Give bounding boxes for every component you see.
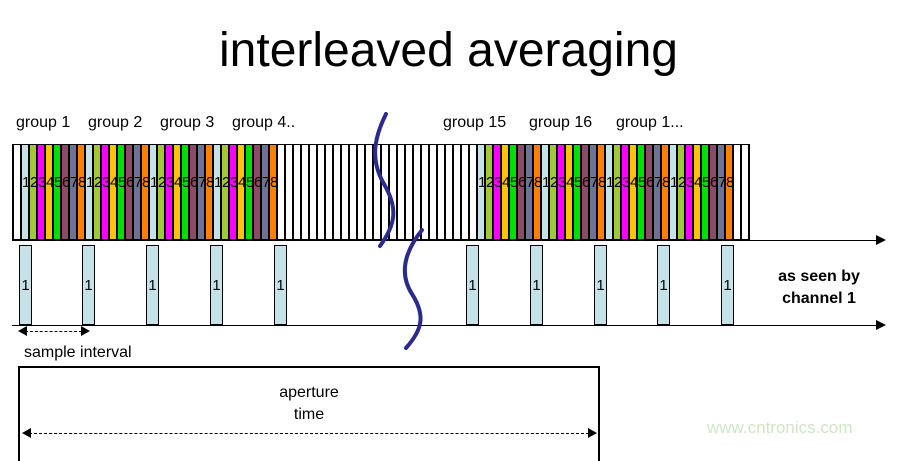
channel-index-label: 5 xyxy=(510,175,516,190)
channel-index-label: 8 xyxy=(598,175,604,190)
channel-bar-8: 8 xyxy=(533,145,541,239)
blank-slot-bar xyxy=(301,145,309,239)
pulse-label: 1 xyxy=(531,278,542,293)
channel-1-pulse: 1 xyxy=(466,245,479,325)
channel-index-label: 1 xyxy=(542,175,548,190)
time-axis-stream-arrowhead xyxy=(876,235,886,245)
channel-index-label: 2 xyxy=(614,175,620,190)
channel-index-label: 2 xyxy=(550,175,556,190)
channel-bar-8: 8 xyxy=(661,145,669,239)
channel-bar-1: 1 xyxy=(149,145,157,239)
channel-index-label: 7 xyxy=(134,175,140,190)
channel-index-label: 3 xyxy=(230,175,236,190)
channel-index-label: 2 xyxy=(94,175,100,190)
channel-bar-5: 5 xyxy=(509,145,517,239)
blank-slot-bar xyxy=(437,145,445,239)
channel-index-label: 7 xyxy=(526,175,532,190)
channel-bar-5: 5 xyxy=(117,145,125,239)
channel-bar-6: 6 xyxy=(709,145,717,239)
channel-1-pulse: 1 xyxy=(146,245,159,325)
channel-bar-2: 2 xyxy=(29,145,37,239)
channel-bar-2: 2 xyxy=(485,145,493,239)
blank-slot-bar xyxy=(453,145,461,239)
channel-1-pulse: 1 xyxy=(594,245,607,325)
channel-index-label: 1 xyxy=(214,175,220,190)
group-label-4: group 4.. xyxy=(232,114,295,132)
channel-1-pulse: 1 xyxy=(82,245,95,325)
channel-1-pulse: 1 xyxy=(274,245,287,325)
channel-index-label: 2 xyxy=(678,175,684,190)
channel-bar-5: 5 xyxy=(573,145,581,239)
channel-index-label: 3 xyxy=(494,175,500,190)
blank-slot-bar xyxy=(13,145,21,239)
group-label-15: group 15 xyxy=(443,114,506,132)
channel-bar-7: 7 xyxy=(589,145,597,239)
channel-index-label: 6 xyxy=(62,175,68,190)
channel-1-pulse: 1 xyxy=(530,245,543,325)
channel-index-label: 5 xyxy=(574,175,580,190)
channel-1-pulse: 1 xyxy=(19,245,32,325)
channel-index-label: 8 xyxy=(270,175,276,190)
channel-index-label: 4 xyxy=(630,175,636,190)
channel-bar-8: 8 xyxy=(77,145,85,239)
channel-index-label: 7 xyxy=(198,175,204,190)
channel-index-label: 7 xyxy=(718,175,724,190)
channel-bar-4: 4 xyxy=(173,145,181,239)
channel-bar-2: 2 xyxy=(613,145,621,239)
channel-bar-4: 4 xyxy=(237,145,245,239)
pulse-label: 1 xyxy=(20,278,31,293)
aperture-time-line2: time xyxy=(18,404,600,426)
channel-bar-2: 2 xyxy=(93,145,101,239)
channel-1-pulse: 1 xyxy=(657,245,670,325)
channel-bar-8: 8 xyxy=(141,145,149,239)
channel-index-label: 3 xyxy=(38,175,44,190)
channel-bar-4: 4 xyxy=(501,145,509,239)
channel-bar-4: 4 xyxy=(565,145,573,239)
channel-index-label: 6 xyxy=(582,175,588,190)
channel-index-label: 7 xyxy=(590,175,596,190)
channel-bar-2: 2 xyxy=(549,145,557,239)
channel-index-label: 4 xyxy=(110,175,116,190)
channel-index-label: 6 xyxy=(646,175,652,190)
channel-bar-8: 8 xyxy=(205,145,213,239)
blank-slot-bar xyxy=(285,145,293,239)
channel-bar-7: 7 xyxy=(197,145,205,239)
channel-index-label: 5 xyxy=(246,175,252,190)
channel-bar-3: 3 xyxy=(493,145,501,239)
blank-slot-bar xyxy=(469,145,477,239)
channel-index-label: 2 xyxy=(158,175,164,190)
channel-index-label: 7 xyxy=(262,175,268,190)
channel-bar-5: 5 xyxy=(53,145,61,239)
channel-bar-1: 1 xyxy=(477,145,485,239)
diagram-canvas: interleaved averaging group 1 group 2 gr… xyxy=(0,0,897,449)
channel-bar-3: 3 xyxy=(101,145,109,239)
blank-slot-bar xyxy=(733,145,741,239)
pulse-label: 1 xyxy=(467,278,478,293)
blank-slot-bar xyxy=(325,145,333,239)
channel-index-label: 5 xyxy=(182,175,188,190)
channel-bar-1: 1 xyxy=(541,145,549,239)
channel-1-pulse: 1 xyxy=(721,245,734,325)
channel-index-label: 6 xyxy=(710,175,716,190)
channel-bar-5: 5 xyxy=(637,145,645,239)
channel-index-label: 8 xyxy=(206,175,212,190)
sample-interval-dimension-line xyxy=(25,331,82,332)
channel-index-label: 1 xyxy=(86,175,92,190)
channel-bar-4: 4 xyxy=(109,145,117,239)
channel-bar-4: 4 xyxy=(45,145,53,239)
channel-bar-8: 8 xyxy=(269,145,277,239)
pulse-label: 1 xyxy=(722,278,733,293)
aperture-time-label: aperture time xyxy=(18,382,600,426)
channel-bar-1: 1 xyxy=(605,145,613,239)
channel-bar-5: 5 xyxy=(245,145,253,239)
blank-slot-bar xyxy=(317,145,325,239)
channel-bar-6: 6 xyxy=(581,145,589,239)
channel-index-label: 3 xyxy=(622,175,628,190)
watermark: www.cntronics.com xyxy=(707,418,852,438)
channel-bar-6: 6 xyxy=(253,145,261,239)
channel-bar-3: 3 xyxy=(165,145,173,239)
aperture-arrow-right xyxy=(588,428,597,438)
sample-interval-arrow-right xyxy=(81,326,90,336)
pulse-label: 1 xyxy=(595,278,606,293)
channel-index-label: 8 xyxy=(78,175,84,190)
aperture-time-line1: aperture xyxy=(18,382,600,404)
channel-bar-6: 6 xyxy=(125,145,133,239)
blank-slot-bar xyxy=(341,145,349,239)
channel-bar-7: 7 xyxy=(69,145,77,239)
as-seen-by-line1: as seen by xyxy=(744,266,894,288)
channel-index-label: 4 xyxy=(174,175,180,190)
pulse-label: 1 xyxy=(83,278,94,293)
blank-slot-bar xyxy=(741,145,749,239)
channel-index-label: 4 xyxy=(566,175,572,190)
channel-bar-7: 7 xyxy=(525,145,533,239)
channel-bar-4: 4 xyxy=(629,145,637,239)
channel-index-label: 8 xyxy=(662,175,668,190)
channel-bar-7: 7 xyxy=(133,145,141,239)
channel-index-label: 2 xyxy=(486,175,492,190)
page-title: interleaved averaging xyxy=(0,22,897,80)
channel-index-label: 3 xyxy=(686,175,692,190)
channel-bar-6: 6 xyxy=(61,145,69,239)
channel-index-label: 4 xyxy=(46,175,52,190)
blank-slot-bar xyxy=(461,145,469,239)
channel-index-label: 1 xyxy=(478,175,484,190)
as-seen-by-caption: as seen by channel 1 xyxy=(744,266,894,310)
channel-bar-5: 5 xyxy=(701,145,709,239)
pulse-label: 1 xyxy=(275,278,286,293)
channel-index-label: 8 xyxy=(142,175,148,190)
channel-bar-3: 3 xyxy=(37,145,45,239)
channel-index-label: 6 xyxy=(190,175,196,190)
channel-bar-3: 3 xyxy=(621,145,629,239)
channel-bar-3: 3 xyxy=(685,145,693,239)
blank-slot-bar xyxy=(333,145,341,239)
channel-bar-7: 7 xyxy=(717,145,725,239)
channel-bar-1: 1 xyxy=(669,145,677,239)
channel-bar-8: 8 xyxy=(597,145,605,239)
channel-index-label: 7 xyxy=(70,175,76,190)
channel-bar-6: 6 xyxy=(517,145,525,239)
channel-bar-6: 6 xyxy=(645,145,653,239)
sample-interval-label: sample interval xyxy=(24,343,132,363)
channel-bar-7: 7 xyxy=(653,145,661,239)
channel-index-label: 8 xyxy=(534,175,540,190)
channel-bar-1: 1 xyxy=(213,145,221,239)
channel-index-label: 5 xyxy=(54,175,60,190)
group-label-next: group 1... xyxy=(616,114,684,132)
pulse-label: 1 xyxy=(211,278,222,293)
group-label-16: group 16 xyxy=(529,114,592,132)
channel-index-label: 1 xyxy=(606,175,612,190)
channel-bar-1: 1 xyxy=(85,145,93,239)
channel-index-label: 6 xyxy=(518,175,524,190)
group-label-1: group 1 xyxy=(16,114,70,132)
channel-index-label: 6 xyxy=(254,175,260,190)
blank-slot-bar xyxy=(357,145,365,239)
aperture-dimension-line xyxy=(29,433,589,434)
group-label-3: group 3 xyxy=(160,114,214,132)
break-squiggle-lower xyxy=(392,228,462,350)
channel-bar-3: 3 xyxy=(557,145,565,239)
channel-bar-3: 3 xyxy=(229,145,237,239)
pulse-label: 1 xyxy=(658,278,669,293)
channel-index-label: 5 xyxy=(702,175,708,190)
channel-index-label: 3 xyxy=(166,175,172,190)
channel-bar-2: 2 xyxy=(221,145,229,239)
channel-index-label: 4 xyxy=(502,175,508,190)
channel-bar-2: 2 xyxy=(157,145,165,239)
channel-index-label: 5 xyxy=(638,175,644,190)
channel-index-label: 7 xyxy=(654,175,660,190)
blank-slot-bar xyxy=(277,145,285,239)
channel-index-label: 4 xyxy=(238,175,244,190)
channel-bar-4: 4 xyxy=(693,145,701,239)
channel-index-label: 8 xyxy=(726,175,732,190)
channel-bar-8: 8 xyxy=(725,145,733,239)
channel-index-label: 1 xyxy=(22,175,28,190)
time-axis-channel1-arrowhead xyxy=(876,320,886,330)
channel-index-label: 1 xyxy=(150,175,156,190)
blank-slot-bar xyxy=(349,145,357,239)
channel-index-label: 6 xyxy=(126,175,132,190)
channel-bar-6: 6 xyxy=(189,145,197,239)
channel-index-label: 3 xyxy=(102,175,108,190)
channel-index-label: 3 xyxy=(558,175,564,190)
channel-index-label: 2 xyxy=(30,175,36,190)
blank-slot-bar xyxy=(445,145,453,239)
channel-index-label: 1 xyxy=(670,175,676,190)
channel-bar-2: 2 xyxy=(677,145,685,239)
channel-index-label: 4 xyxy=(694,175,700,190)
pulse-label: 1 xyxy=(147,278,158,293)
group-label-2: group 2 xyxy=(88,114,142,132)
blank-slot-bar xyxy=(309,145,317,239)
as-seen-by-line2: channel 1 xyxy=(744,288,894,310)
channel-bar-7: 7 xyxy=(261,145,269,239)
channel-index-label: 5 xyxy=(118,175,124,190)
channel-bar-1: 1 xyxy=(21,145,29,239)
channel-1-pulse: 1 xyxy=(210,245,223,325)
channel-index-label: 2 xyxy=(222,175,228,190)
channel-bar-5: 5 xyxy=(181,145,189,239)
blank-slot-bar xyxy=(293,145,301,239)
